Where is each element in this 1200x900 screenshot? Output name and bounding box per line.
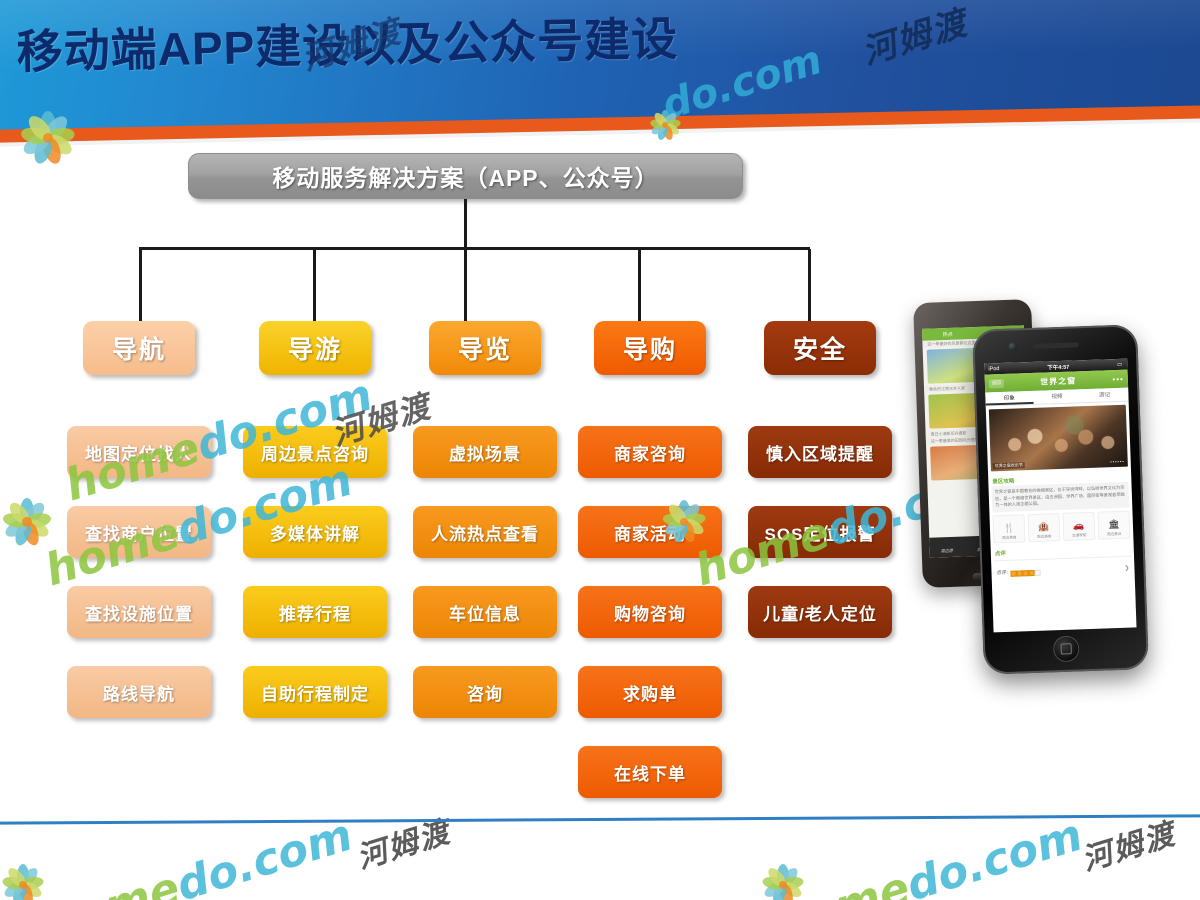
category-header-label: 导购	[623, 330, 677, 366]
feature-item-label: 慎入区域提醒	[766, 440, 874, 465]
android-tab-0[interactable]: 热点	[922, 330, 973, 339]
flower-petal	[22, 876, 44, 891]
feature-item[interactable]: 路线导航	[67, 666, 211, 718]
flower-petal	[762, 880, 786, 900]
status-carrier: iPod	[988, 366, 999, 372]
flower-petal	[770, 883, 788, 900]
feature-item-label: 自助行程制定	[261, 680, 369, 705]
feature-item[interactable]: 儿童/老人定位	[748, 586, 892, 638]
quick-link-label-3: 周边景点	[1099, 531, 1129, 537]
connector-stem	[464, 199, 467, 249]
flower-petal	[10, 883, 28, 900]
app-tab-2[interactable]: 游记	[1081, 388, 1129, 403]
feature-list-tour: 虚拟场景人流热点查看车位信息咨询	[409, 426, 561, 718]
app-tab-0[interactable]: 印象	[985, 391, 1033, 406]
quick-link-3[interactable]: 🏛 周边景点	[1097, 510, 1130, 540]
watermark-home-text-5: home	[769, 862, 915, 900]
watermark-home-text-4: home	[39, 862, 185, 900]
battery-icon: ▭	[1117, 361, 1123, 367]
flower-petal	[20, 498, 34, 522]
quick-link-1[interactable]: 🏨 周边美食	[1027, 513, 1060, 543]
hero-caption: 世界之窗欢乐节	[993, 462, 1025, 469]
feature-item[interactable]: 慎入区域提醒	[748, 426, 892, 478]
carousel-dots[interactable]: ••••••	[1110, 459, 1125, 464]
watermark-cn-text-4: 河姆渡	[353, 815, 455, 877]
app-title: 世界之窗	[1004, 374, 1113, 389]
feature-item-label: 周边景点咨询	[261, 440, 369, 465]
app-tab-1[interactable]: 视频	[1033, 389, 1081, 404]
connector-drop-4	[638, 249, 641, 321]
category-header-label: 安全	[793, 330, 847, 366]
feature-item-label: 儿童/老人定位	[763, 600, 877, 625]
feature-item-label: 购物咨询	[614, 600, 686, 625]
landmark-icon: 🏛	[1108, 518, 1120, 528]
feature-item-label: 商家咨询	[614, 440, 686, 465]
cutlery-icon: 🍴	[1003, 522, 1015, 532]
feature-item-label: 虚拟场景	[449, 440, 521, 465]
category-column-navigation: 导航地图定位找人查找商户位置查找设施位置路线导航	[63, 321, 215, 746]
quick-link-label-2: 交通导航	[1064, 532, 1094, 538]
feature-item-label: 多媒体讲解	[270, 520, 360, 545]
feature-item[interactable]: 查找商户位置	[67, 506, 211, 558]
flower-petal	[2, 511, 28, 529]
feature-list-navigation: 地图定位找人查找商户位置查找设施位置路线导航	[63, 426, 215, 718]
feature-item-label: 在线下单	[614, 760, 686, 785]
connector-drop-3	[464, 249, 467, 321]
flower-petal	[17, 864, 29, 885]
intro-text: 世界之窗是中国著名的微缩景区，位于深圳湾畔，以弘扬世界文化为宗旨，是一个微缩世界…	[995, 485, 1127, 509]
flower-petal	[26, 511, 52, 529]
root-node[interactable]: 移动服务解决方案（APP、公众号）	[188, 153, 743, 199]
hotel-icon: 🏨	[1038, 521, 1050, 531]
category-header-label: 导览	[458, 330, 512, 366]
flower-petal	[2, 876, 24, 891]
watermark-footer-left-cn: 河姆渡	[351, 807, 456, 877]
category-column-tour: 导览虚拟场景人流热点查看车位信息咨询	[409, 321, 561, 746]
feature-item[interactable]: 地图定位找人	[67, 426, 211, 478]
quick-link-label-1: 周边美食	[1029, 534, 1059, 540]
category-header-label: 导航	[112, 330, 166, 366]
back-button[interactable]: 返回	[989, 378, 1004, 388]
feature-item-label: SOS定位报警	[765, 520, 876, 545]
feature-item[interactable]: 虚拟场景	[413, 426, 557, 478]
flower-petal	[2, 880, 26, 900]
feature-item[interactable]: 车位信息	[413, 586, 557, 638]
rating-label: 点评:	[996, 569, 1008, 576]
brand-flower-icon-6	[760, 862, 806, 900]
quick-link-0[interactable]: 🍴 周边美食	[992, 514, 1025, 544]
feature-item-label: 商家活动	[614, 520, 686, 545]
category-header-navigation[interactable]: 导航	[83, 321, 195, 375]
flower-petal	[20, 880, 44, 900]
phone-mockups: 热点 推荐 这一季最好的风景都在这里 春色的江南水乡人家 夏日小清新花卉摄影 这…	[900, 285, 1200, 705]
category-header-guide[interactable]: 导游	[259, 321, 371, 375]
flower-petal	[22, 499, 48, 527]
quick-link-label-0: 周边美食	[994, 535, 1024, 541]
feature-item[interactable]: 购物咨询	[578, 586, 722, 638]
feature-item-label: 推荐行程	[279, 600, 351, 625]
flower-petal	[778, 865, 800, 889]
feature-list-shopping: 商家咨询商家活动购物咨询求购单在线下单	[574, 426, 726, 798]
feature-item-label: 查找设施位置	[85, 600, 193, 625]
feature-item-label: 咨询	[467, 680, 503, 705]
feature-item[interactable]: 求购单	[578, 666, 722, 718]
quick-link-2[interactable]: 🚗 交通导航	[1062, 511, 1095, 541]
feature-item[interactable]: 人流热点查看	[413, 506, 557, 558]
quick-links-grid[interactable]: 🍴 周边美食 🏨 周边美食 🚗 交通导航 🏛 周边景点	[992, 510, 1130, 543]
car-icon: 🚗	[1073, 520, 1085, 530]
hero-image[interactable]: 世界之窗欢乐节 ••••••	[989, 405, 1128, 472]
feature-item[interactable]: 多媒体讲解	[243, 506, 387, 558]
flower-petal	[18, 865, 40, 889]
feature-item[interactable]: 商家活动	[578, 506, 722, 558]
feature-item[interactable]: 自助行程制定	[243, 666, 387, 718]
category-column-shopping: 导购商家咨询商家活动购物咨询求购单在线下单	[574, 321, 726, 826]
brand-flower-icon-5	[0, 862, 46, 900]
flower-core	[779, 881, 787, 889]
feature-item[interactable]: 查找设施位置	[67, 586, 211, 638]
category-header-tour[interactable]: 导览	[429, 321, 541, 375]
star-icon-4[interactable]	[1035, 569, 1041, 575]
flower-petal	[777, 864, 789, 885]
flower-petal	[765, 865, 787, 889]
connector-drop-2	[313, 249, 316, 321]
feature-item[interactable]: 商家咨询	[578, 426, 722, 478]
category-header-safety[interactable]: 安全	[764, 321, 876, 375]
iphone-front-camera-icon	[1008, 342, 1016, 350]
chevron-right-icon[interactable]: ❯	[1124, 565, 1129, 572]
connector-drop-1	[139, 249, 142, 321]
iphone-home-button[interactable]	[1052, 635, 1079, 662]
category-header-shopping[interactable]: 导购	[594, 321, 706, 375]
feature-item[interactable]: 推荐行程	[243, 586, 387, 638]
android-tabbar-item-0[interactable]: 周边游	[929, 537, 964, 558]
category-column-safety: 安全慎入区域提醒SOS定位报警儿童/老人定位	[744, 321, 896, 666]
iphone-screen: iPod 下午4:57 ▭ 返回 世界之窗 ••• 印象 视频 游记 世界之窗欢…	[984, 359, 1136, 633]
flower-petal	[5, 865, 27, 889]
feature-list-guide: 周边景点咨询多媒体讲解推荐行程自助行程制定	[239, 426, 391, 718]
more-icon[interactable]: •••	[1112, 374, 1124, 383]
iphone-earpiece	[1032, 342, 1078, 349]
rating-row[interactable]: 点评: ❯	[994, 556, 1132, 585]
flower-petal	[23, 516, 51, 540]
flower-petal	[17, 883, 35, 900]
feature-item-label: 求购单	[623, 680, 677, 705]
feature-item[interactable]: 周边景点咨询	[243, 426, 387, 478]
slide-canvas: 移动端APP建设以及公众号建设 河姆渡 do.com 河姆渡 移动服务解决方案（…	[0, 0, 1200, 900]
category-header-label: 导游	[288, 330, 342, 366]
feature-item-label: 地图定位找人	[85, 440, 193, 465]
feature-item-label: 查找商户位置	[85, 520, 193, 545]
flower-petal	[6, 499, 32, 527]
watermark-footer-right: homedo.com	[769, 810, 1088, 900]
watermark-footer-right-cn: 河姆渡	[1076, 809, 1181, 879]
feature-item-label: 车位信息	[449, 600, 521, 625]
watermark-domain-text-6: do.com	[901, 810, 1089, 900]
connector-drop-5	[808, 249, 811, 321]
feature-item[interactable]: 在线下单	[578, 746, 722, 798]
category-column-guide: 导游周边景点咨询多媒体讲解推荐行程自助行程制定	[239, 321, 391, 746]
intro-card: 世界之窗是中国著名的微缩景区，位于深圳湾畔，以弘扬世界文化为宗旨，是一个微缩世界…	[992, 482, 1130, 512]
flower-petal	[12, 520, 33, 548]
flower-petal	[780, 880, 804, 900]
flower-core	[22, 517, 32, 527]
connector-bus	[139, 247, 810, 250]
brand-flower-icon-3	[0, 495, 54, 549]
flower-petal	[20, 520, 41, 548]
flower-petal	[762, 876, 784, 891]
rating-stars[interactable]	[1008, 559, 1125, 581]
feature-list-safety: 慎入区域提醒SOS定位报警儿童/老人定位	[744, 426, 896, 638]
flower-core	[19, 881, 27, 889]
feature-item[interactable]: SOS定位报警	[748, 506, 892, 558]
flower-petal	[782, 876, 804, 891]
watermark-cn-text-5: 河姆渡	[1078, 817, 1180, 879]
feature-item-label: 路线导航	[103, 680, 175, 705]
feature-item-label: 人流热点查看	[431, 520, 539, 545]
flower-petal	[2, 516, 30, 540]
root-node-label: 移动服务解决方案（APP、公众号）	[272, 159, 658, 193]
flower-petal	[777, 883, 795, 900]
iphone-mockup: iPod 下午4:57 ▭ 返回 世界之窗 ••• 印象 视频 游记 世界之窗欢…	[972, 324, 1149, 675]
feature-item[interactable]: 咨询	[413, 666, 557, 718]
